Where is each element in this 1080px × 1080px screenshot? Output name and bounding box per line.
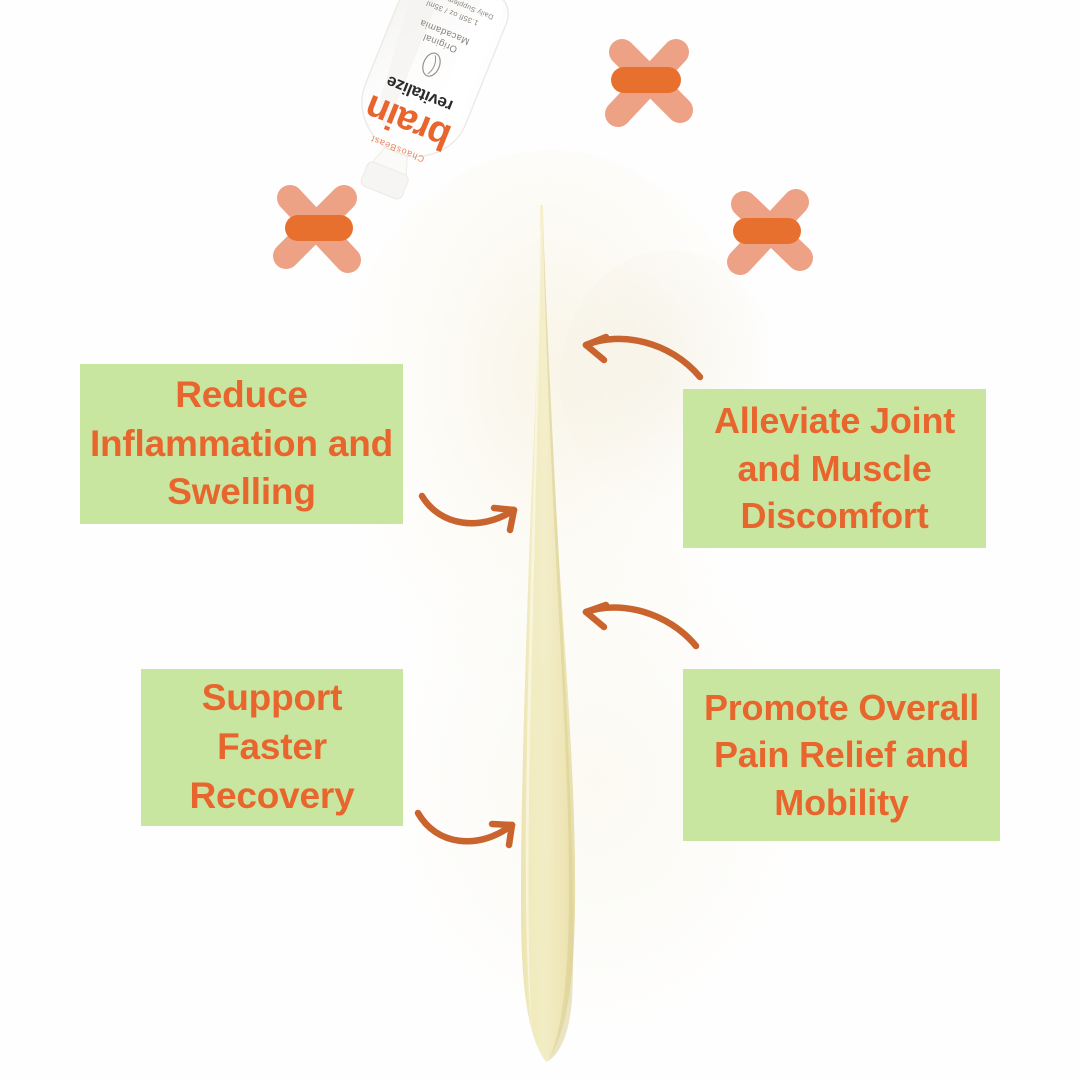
- bottle-product-word-label: revitalize: [384, 72, 456, 116]
- arrow-top-left-to-center-icon: [418, 478, 533, 553]
- benefit-label: Reduce Inflammation and Swelling: [80, 371, 403, 517]
- bottle-volume-label: 1.35fl oz / 35ml: [425, 0, 480, 28]
- benefit-card-support-recovery[interactable]: Support Faster Recovery: [141, 669, 403, 826]
- bottle-brand-label: ChaosBeast: [369, 134, 426, 165]
- bottle-product-line-label: brain: [360, 86, 457, 158]
- benefit-label: Alleviate Joint and Muscle Discomfort: [683, 397, 986, 540]
- bolt-top-right-icon: [594, 22, 702, 142]
- benefit-label: Promote Overall Pain Relief and Mobility: [683, 684, 1000, 827]
- benefit-card-alleviate-discomfort[interactable]: Alleviate Joint and Muscle Discomfort: [683, 389, 986, 548]
- benefit-card-reduce-inflammation[interactable]: Reduce Inflammation and Swelling: [80, 364, 403, 524]
- bottle-flavor-line-2: Macadamia: [418, 17, 471, 47]
- benefit-card-promote-mobility[interactable]: Promote Overall Pain Relief and Mobility: [683, 669, 1000, 841]
- bolt-left-icon: [262, 168, 372, 288]
- arrow-bottom-right-to-center-icon: [562, 588, 712, 665]
- arrow-top-right-to-center-icon: [560, 315, 720, 400]
- bottle-descriptor-label: Daily Supplement Food: [419, 0, 495, 20]
- product-bottle: ChaosBeast brain revitalize Original Mac…: [268, 0, 568, 248]
- bottle-flavor-line-1: Original: [422, 31, 459, 55]
- arrow-bottom-left-to-center-icon: [412, 795, 530, 870]
- benefit-label: Support Faster Recovery: [141, 674, 403, 820]
- bolt-right-icon: [718, 176, 822, 289]
- infographic-canvas: ChaosBeast brain revitalize Original Mac…: [0, 0, 1080, 1080]
- seed-icon: [420, 50, 444, 78]
